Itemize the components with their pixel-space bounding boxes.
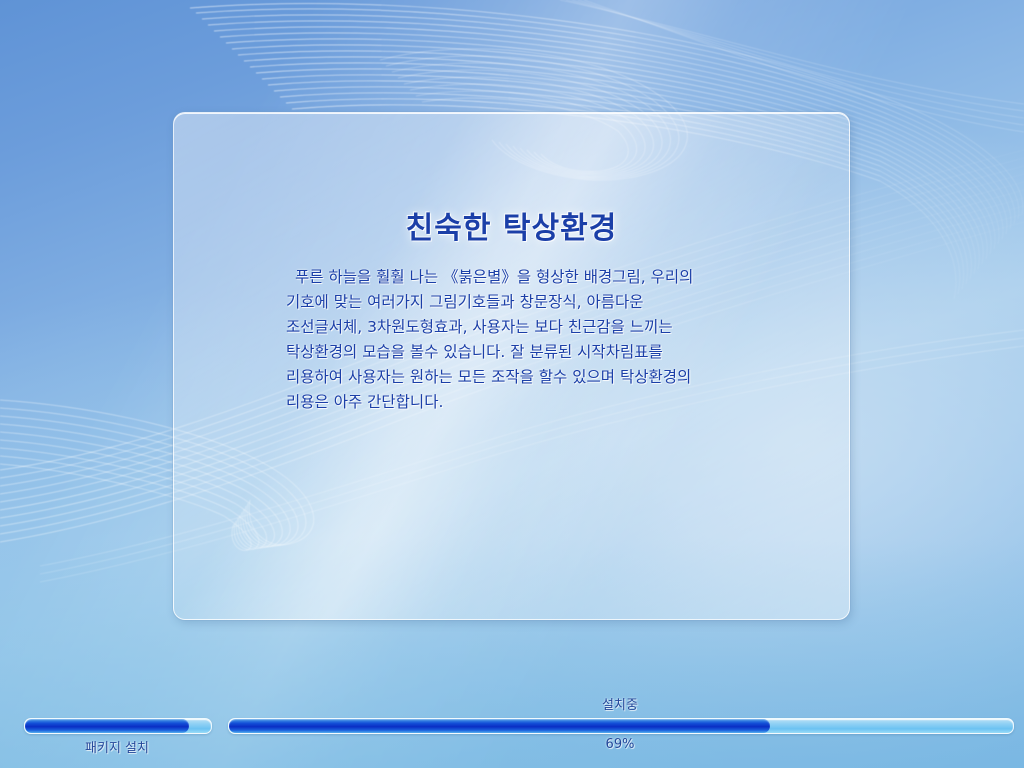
description-line: 리용하여 사용자는 원하는 모든 조작을 할수 있으며 탁상환경의 (286, 365, 742, 390)
installer-screen: 친숙한 탁상환경 푸른 하늘을 훨훨 나는 《붉은별》을 형상한 배경그림, 우… (0, 0, 1024, 768)
overall-progress-fill (229, 719, 770, 733)
overall-status-label: 설치중 (228, 694, 1012, 713)
description-line: 탁상환경의 모습을 볼수 있습니다. 잘 분류된 시작차림표를 (286, 340, 742, 365)
info-panel: 친숙한 탁상환경 푸른 하늘을 훨훨 나는 《붉은별》을 형상한 배경그림, 우… (173, 112, 850, 620)
description-line: 푸른 하늘을 훨훨 나는 《붉은별》을 형상한 배경그림, 우리의 (286, 265, 742, 290)
page-title: 친숙한 탁상환경 (174, 203, 849, 247)
description-line: 리용은 아주 간단합니다. (286, 390, 742, 415)
description-line: 조선글서체, 3차원도형효과, 사용자는 보다 친근감을 느끼는 (286, 315, 742, 340)
overall-progress-bar (228, 718, 1014, 734)
package-progress-fill (25, 719, 189, 733)
description-line: 기호에 맞는 여러가지 그림기호들과 창문장식, 아름다운 (286, 290, 742, 315)
package-progress-label: 패키지 설치 (24, 737, 210, 756)
overall-progress-percent: 69% (228, 737, 1012, 752)
panel-description: 푸른 하늘을 훨훨 나는 《붉은별》을 형상한 배경그림, 우리의 기호에 맞는… (286, 265, 742, 415)
package-progress-bar (24, 718, 212, 734)
